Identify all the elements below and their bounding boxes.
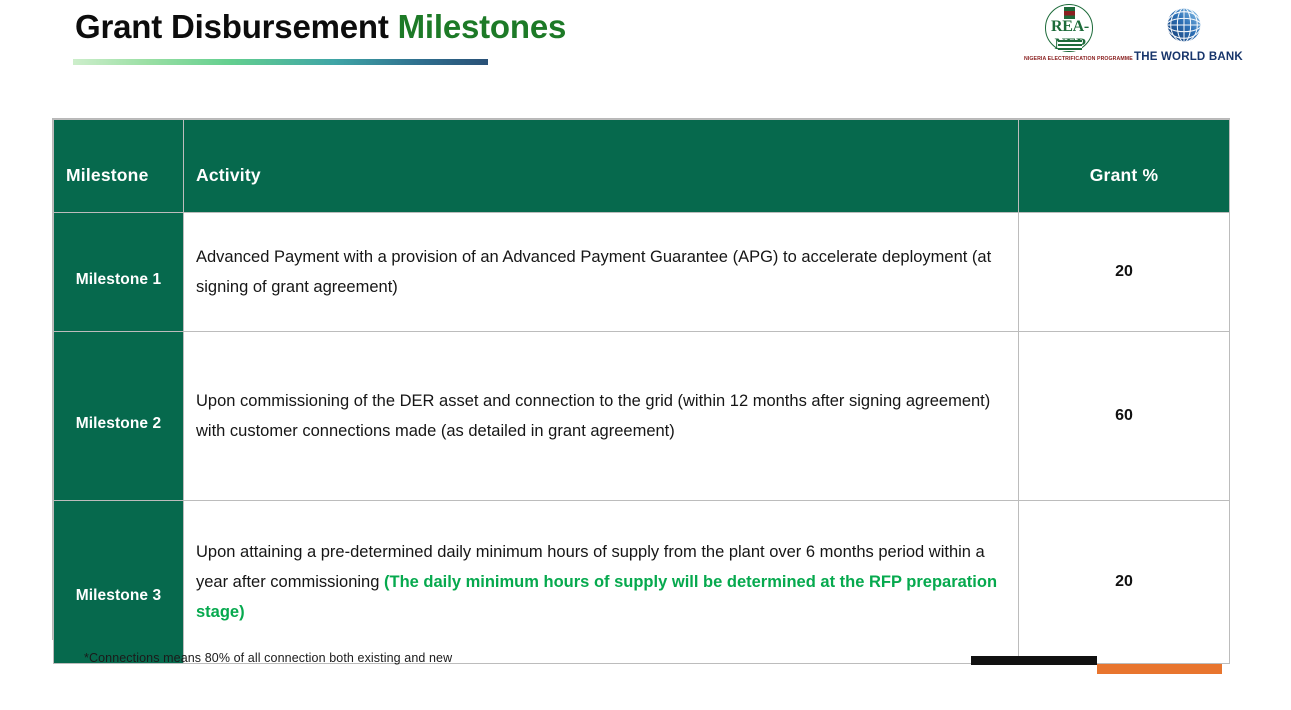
activity-cell: Advanced Payment with a provision of an … [184,213,1019,332]
column-header-grant: Grant % [1019,120,1230,213]
table-row: Milestone 2 Upon commissioning of the DE… [54,332,1230,501]
decor-bar-black [971,656,1097,665]
table-row: Milestone 1 Advanced Payment with a prov… [54,213,1230,332]
page-title-primary: Grant Disbursement [75,8,389,45]
milestone-label-cell: Milestone 3 [54,501,184,664]
rea-bars-icon [1058,40,1082,51]
table-row: Milestone 3 Upon attaining a pre-determi… [54,501,1230,664]
footnote-text: *Connections means 80% of all connection… [84,651,452,665]
decor-bar-orange [1097,664,1222,674]
table-header-row: Milestone Activity Grant % [54,120,1230,213]
activity-text: Upon commissioning of the DER asset and … [196,392,990,440]
activity-cell: Upon commissioning of the DER asset and … [184,332,1019,501]
grant-percent-cell: 20 [1019,213,1230,332]
rea-nep-subtitle: NIGERIA ELECTRIFICATION PROGRAMME [1024,56,1116,62]
page-title-accent: Milestones [398,8,567,45]
milestones-table: Milestone Activity Grant % Milestone 1 A… [52,118,1230,640]
title-gradient-rule [73,59,488,65]
milestone-label-cell: Milestone 2 [54,332,184,501]
milestone-label: Milestone 3 [54,587,183,605]
world-bank-logo: THE WORLD BANK [1134,6,1234,68]
milestone-label-cell: Milestone 1 [54,213,184,332]
grant-percent-cell: 20 [1019,501,1230,664]
milestone-label: Milestone 2 [54,415,183,433]
world-bank-wordmark: THE WORLD BANK [1134,51,1234,63]
grant-percent-cell: 60 [1019,332,1230,501]
activity-cell: Upon attaining a pre-determined daily mi… [184,501,1019,664]
column-header-activity: Activity [184,120,1019,213]
column-header-milestone: Milestone [54,120,184,213]
rea-nep-emblem-icon: REA-NEP [1039,4,1101,54]
rea-nep-logo: REA-NEP NIGERIA ELECTRIFICATION PROGRAMM… [1024,4,1116,72]
slide-header: Grant Disbursement Milestones REA-NEP NI… [0,0,1291,105]
milestone-label: Milestone 1 [54,271,183,289]
activity-text: Advanced Payment with a provision of an … [196,248,991,296]
page-title: Grant Disbursement Milestones [75,8,566,46]
globe-icon [1165,6,1203,44]
